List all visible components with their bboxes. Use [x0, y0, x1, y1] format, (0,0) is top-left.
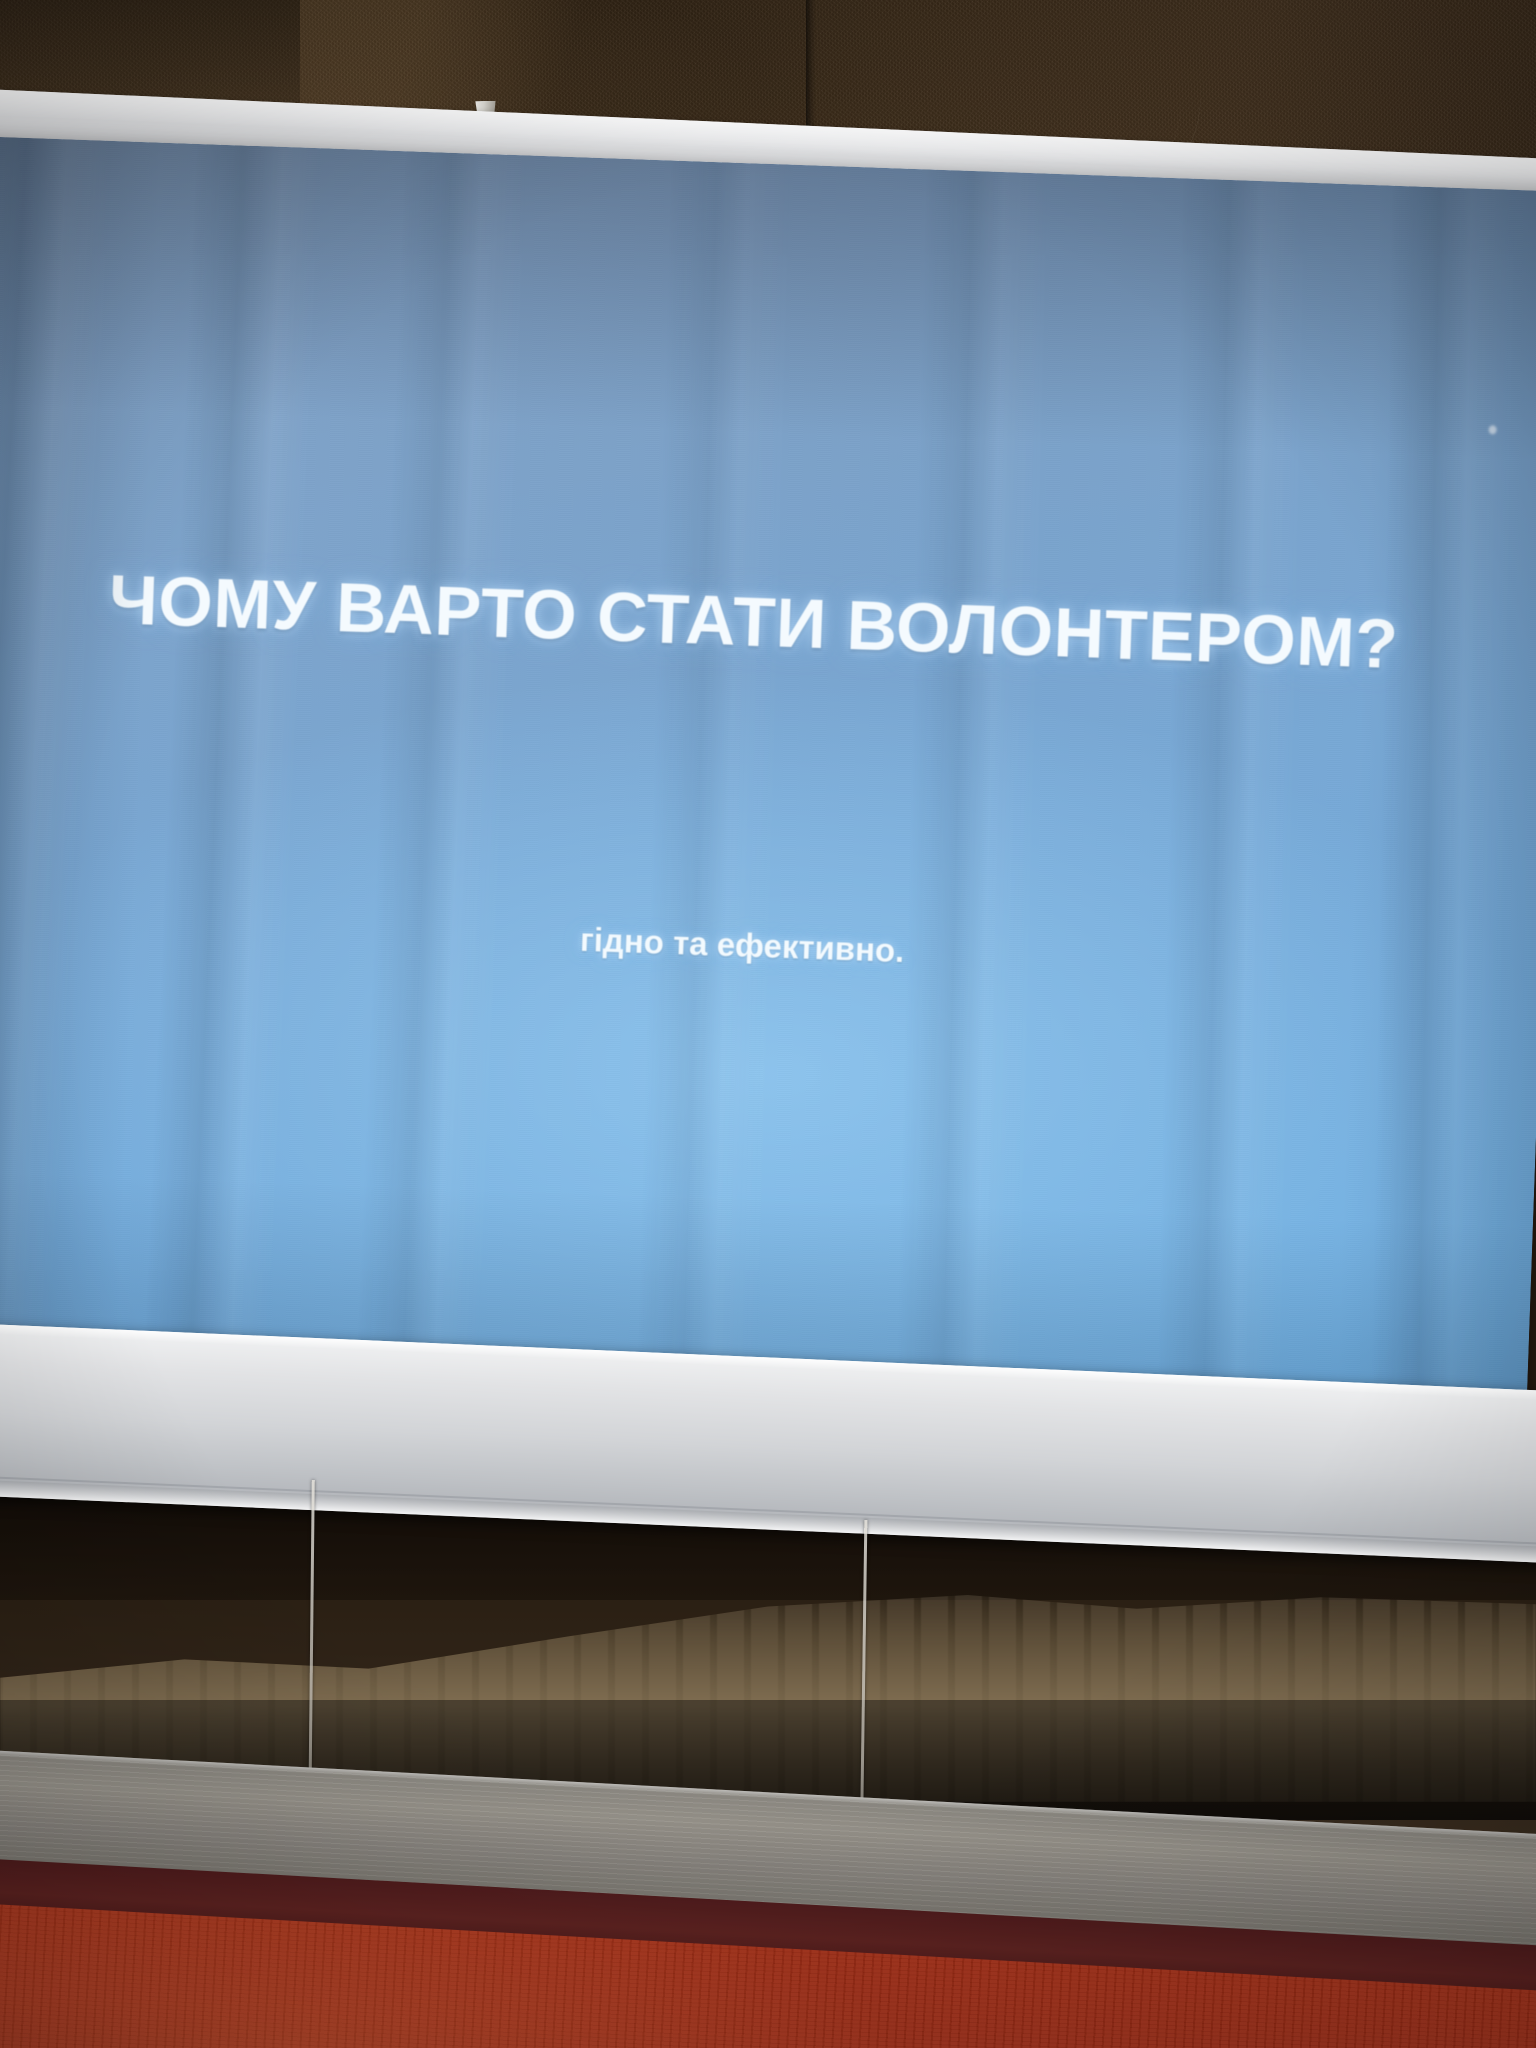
- projection-screen: ЧОМУ ВАРТО СТАТИ ВОЛОНТЕРОМ? гідно та еф…: [0, 136, 1536, 1421]
- screen-vignette: [0, 136, 1536, 1421]
- photo-scene: ЧОМУ ВАРТО СТАТИ ВОЛОНТЕРОМ? гідно та еф…: [0, 0, 1536, 2048]
